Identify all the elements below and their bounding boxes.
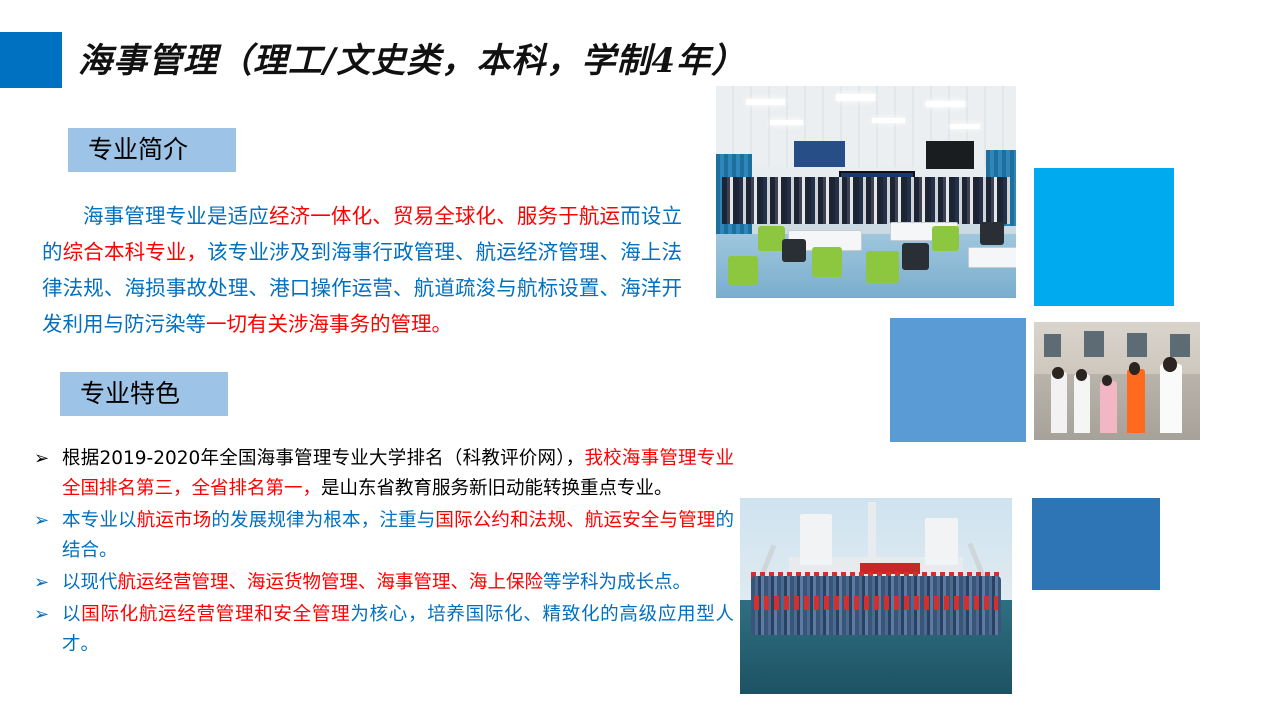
section-badge-features: 专业特色 [60,372,228,416]
blue-block [890,318,1026,442]
bullet-arrow-icon: ➢ [34,444,62,474]
feature-3-run-0: 以 [62,604,81,625]
section-badge-intro: 专业简介 [68,128,236,172]
ceiling-lamp-icon [926,101,965,107]
feature-0-run-0: 根据2019-2020年全国海事管理专业大学排名（科教评价网）， [62,448,584,469]
wall-monitor [926,141,974,169]
steel-blue-block [1032,498,1160,590]
feature-item: ➢本专业以航运市场的发展规律为根本，注重与国际公约和法规、航运安全与管理的结合。 [34,506,734,566]
feature-1-run-2: 的发展规律为根本，注重与 [211,510,435,531]
intro-text-run-3: 综合本科专业， [63,240,208,264]
feature-2-run-1: 航运经营管理、海运货物管理、海事管理、海上保险 [118,572,544,593]
chair [902,243,929,271]
chair [866,251,899,283]
feature-item-text: 根据2019-2020年全国海事管理专业大学排名（科教评价网），我校海事管理专业… [62,444,734,504]
chair [980,222,1004,245]
student-figure [1160,364,1182,432]
bullet-arrow-icon: ➢ [34,568,62,598]
chair [782,239,806,262]
feature-1-run-1: 航运市场 [137,510,212,531]
page-title: 海事管理（理工/文史类，本科，学制4年） [78,38,718,84]
cyan-block [1034,168,1174,306]
window [1044,334,1061,358]
wall-monitor [794,141,845,166]
chair [758,226,785,251]
ceiling-lamp-icon [836,94,875,100]
feature-0-run-2: 是山东省教育服务新旧动能转换重点专业。 [321,478,673,499]
feature-item: ➢以现代航运经营管理、海运货物管理、海事管理、海上保险等学科为成长点。 [34,568,734,598]
feature-1-run-3: 国际公约和法规、航运安全与管理 [435,510,715,531]
window [1127,333,1147,358]
feature-item-text: 以国际化航运经营管理和安全管理为核心，培养国际化、精致化的高级应用型人才。 [62,600,734,660]
feature-item-text: 以现代航运经营管理、海运货物管理、海事管理、海上保险等学科为成长点。 [62,568,734,598]
feature-2-run-0: 以现代 [62,572,118,593]
student-head [1052,367,1064,379]
student-head [1102,375,1112,386]
student-figure [1051,372,1068,433]
chair [932,226,959,251]
ship-tower [925,518,958,565]
feature-1-run-0: 本专业以 [62,510,137,531]
student-figure [1127,369,1145,433]
ship-mast [868,502,876,561]
ceiling-lamp-icon [950,124,980,129]
window [1084,331,1104,357]
intro-text-run-1: 经济一体化、贸易全球化、服务于航运 [269,204,620,228]
feature-3-run-1: 国际化航运经营管理和安全管理 [81,604,350,625]
bullet-arrow-icon: ➢ [34,600,62,630]
desk [968,247,1016,268]
intro-text-run-5: 一切有关涉海事务的管理。 [206,312,452,336]
ship-tower [800,514,833,565]
feature-item: ➢根据2019-2020年全国海事管理专业大学排名（科教评价网），我校海事管理专… [34,444,734,504]
bullet-arrow-icon: ➢ [34,506,62,536]
feature-2-run-2: 等学科为成长点。 [543,572,691,593]
student-head [1076,369,1088,381]
student-head [1163,357,1176,371]
feature-list: ➢根据2019-2020年全国海事管理专业大学排名（科教评价网），我校海事管理专… [34,444,734,662]
students-row [722,177,1010,224]
classroom-lab-photo [716,86,1016,298]
student-figure [1074,374,1091,433]
ceiling-lamp-icon [872,118,905,123]
students-outdoors-photo [1034,322,1200,440]
intro-text-run-0: 海事管理专业是适应 [83,204,269,228]
ceiling-lamp-icon [746,99,785,105]
ceiling-lamp-icon [770,120,803,125]
feature-item-text: 本专业以航运市场的发展规律为根本，注重与国际公约和法规、航运安全与管理的结合。 [62,506,734,566]
chair [812,247,842,277]
student-figure [1100,381,1117,433]
feature-item: ➢以国际化航运经营管理和安全管理为核心，培养国际化、精致化的高级应用型人才。 [34,600,734,660]
chair [728,256,758,286]
red-helmets-row [754,596,999,610]
intro-paragraph: 海事管理专业是适应经济一体化、贸易全球化、服务于航运而设立的综合本科专业，该专业… [42,198,682,342]
title-accent-block [0,32,62,88]
window [1170,334,1190,358]
ship-deck-group-photo [740,498,1012,694]
